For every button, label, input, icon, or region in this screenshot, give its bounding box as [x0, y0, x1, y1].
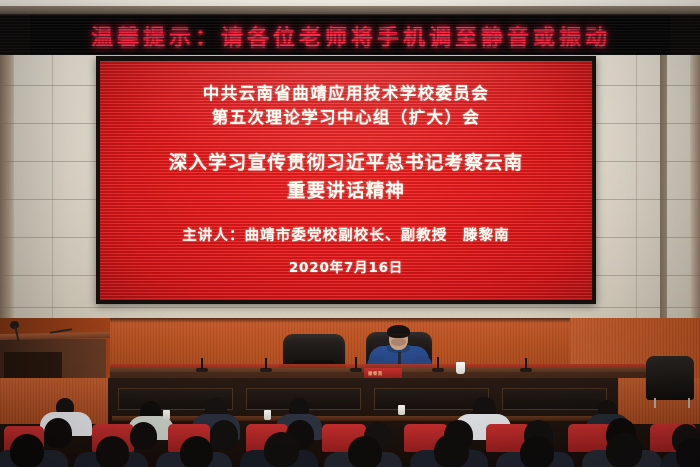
water-cup [456, 362, 465, 374]
desk-microphone-stem [437, 357, 439, 368]
water-cup [264, 410, 271, 420]
wall-pillar-right [660, 55, 667, 320]
audience-person-head [606, 432, 642, 467]
screen-org-line-1: 中共云南省曲靖应用技术学校委员会 [203, 83, 489, 105]
audience-person-head [96, 436, 129, 467]
audience-person-head [348, 436, 382, 467]
main-led-display: 中共云南省曲靖应用技术学校委员会 第五次理论学习中心组（扩大）会 深入学习宣传贯… [96, 56, 596, 304]
audience-person-head [434, 434, 469, 467]
screen-speaker-line: 主讲人：曲靖市委党校副校长、副教授 滕黎南 [182, 226, 510, 246]
audience-person-head [210, 420, 238, 450]
screen-title-line-1: 深入学习宣传贯彻习近平总书记考察云南 [169, 151, 524, 176]
wall-vseam [52, 55, 53, 320]
led-right-edge [670, 15, 700, 56]
desk-microphone-stem [201, 358, 203, 369]
led-display-surface: 中共云南省曲靖应用技术学校委员会 第五次理论学习中心组（扩大）会 深入学习宣传贯… [100, 61, 592, 300]
water-cup [163, 410, 170, 420]
wall-seam [0, 307, 700, 308]
screen-org-line-2: 第五次理论学习中心组（扩大）会 [212, 107, 481, 129]
wall-vseam [636, 55, 637, 320]
screen-title-line-2: 重要讲话精神 [287, 179, 405, 204]
side-chair [646, 356, 694, 400]
audience-person-head [130, 422, 157, 450]
audience-wall-panel [374, 388, 489, 410]
side-chair-leg [654, 398, 656, 408]
screen-date-line: 2020年7月16日 [289, 259, 403, 278]
audience-wall-panel [502, 388, 607, 410]
audience-person-head [520, 436, 554, 467]
water-cup [398, 405, 405, 415]
led-notice-banner: 温馨提示：请各位老师将手机调至静音或振动 [0, 14, 700, 57]
desk-microphone-base [432, 368, 444, 372]
desk-microphone-stem [355, 357, 357, 368]
conference-hall-photo: 温馨提示：请各位老师将手机调至静音或振动 中共云南省曲靖应用技术学校委员会 第五… [0, 0, 700, 467]
audience-person-head [676, 438, 700, 467]
person-face [391, 338, 406, 346]
led-left-edge [0, 15, 30, 56]
desk-microphone-base [350, 368, 362, 372]
audience-person-head [10, 434, 44, 467]
wall-right-column [690, 55, 700, 320]
screen-content: 中共云南省曲靖应用技术学校委员会 第五次理论学习中心组（扩大）会 深入学习宣传贯… [100, 61, 592, 300]
audience-person-head [44, 418, 72, 448]
glasses-icon [390, 334, 407, 338]
name-card-text: 滕黎南 [368, 371, 383, 377]
side-chair-leg [688, 398, 690, 408]
audience-person-head [264, 432, 299, 467]
desk-microphone-stem [265, 358, 267, 369]
led-notice-text: 温馨提示：请各位老师将手机调至静音或振动 [36, 20, 666, 52]
desk-microphone-stem [525, 358, 527, 369]
audience-person-head [180, 436, 213, 467]
wall-left-column [0, 55, 14, 320]
